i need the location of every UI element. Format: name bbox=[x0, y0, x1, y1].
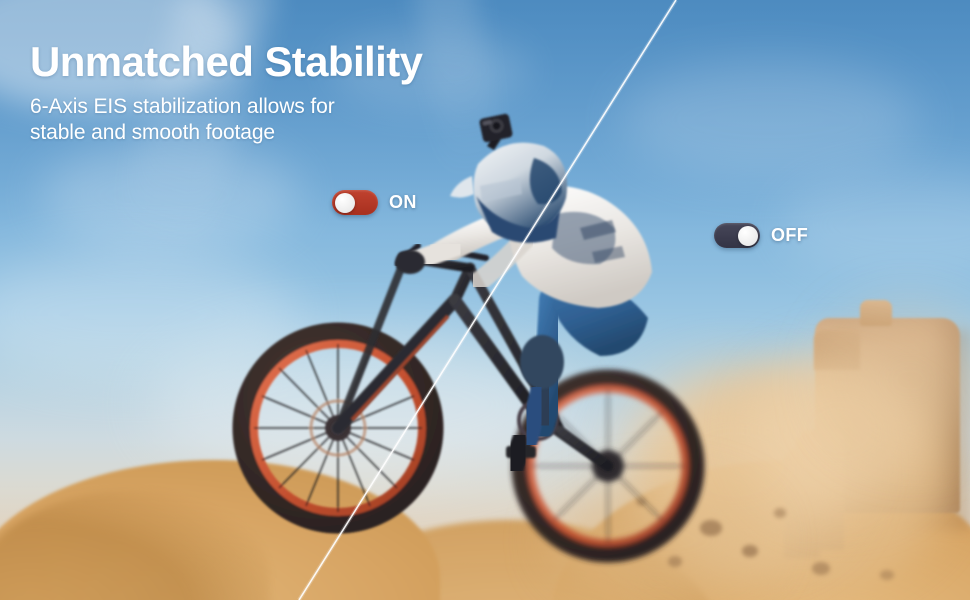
eis-on-label: ON bbox=[389, 192, 417, 213]
eis-off-label: OFF bbox=[771, 225, 808, 246]
debris-clod bbox=[812, 562, 830, 575]
debris-clod bbox=[742, 545, 758, 557]
subtitle-line-2: stable and smooth footage bbox=[30, 120, 550, 147]
eis-on-switch[interactable] bbox=[332, 190, 378, 215]
debris-clod bbox=[636, 498, 646, 506]
switch-knob bbox=[335, 193, 355, 213]
headline-block: Unmatched Stability 6-Axis EIS stabiliza… bbox=[30, 40, 550, 147]
eis-off-toggle-group[interactable]: OFF bbox=[714, 223, 808, 248]
eis-on-toggle-group[interactable]: ON bbox=[332, 190, 417, 215]
debris-clod bbox=[880, 570, 894, 580]
cloud-wisp bbox=[620, 60, 920, 180]
cloud-wisp bbox=[150, 330, 570, 480]
debris-clod bbox=[668, 556, 682, 567]
switch-knob bbox=[738, 226, 758, 246]
subtitle-line-1: 6-Axis EIS stabilization allows for bbox=[30, 94, 550, 121]
promo-banner: Unmatched Stability 6-Axis EIS stabiliza… bbox=[0, 0, 970, 600]
debris-clod bbox=[774, 508, 786, 518]
eis-off-switch[interactable] bbox=[714, 223, 760, 248]
dust-cloud bbox=[550, 480, 770, 600]
debris-clod bbox=[700, 520, 722, 536]
page-title: Unmatched Stability bbox=[30, 40, 550, 85]
